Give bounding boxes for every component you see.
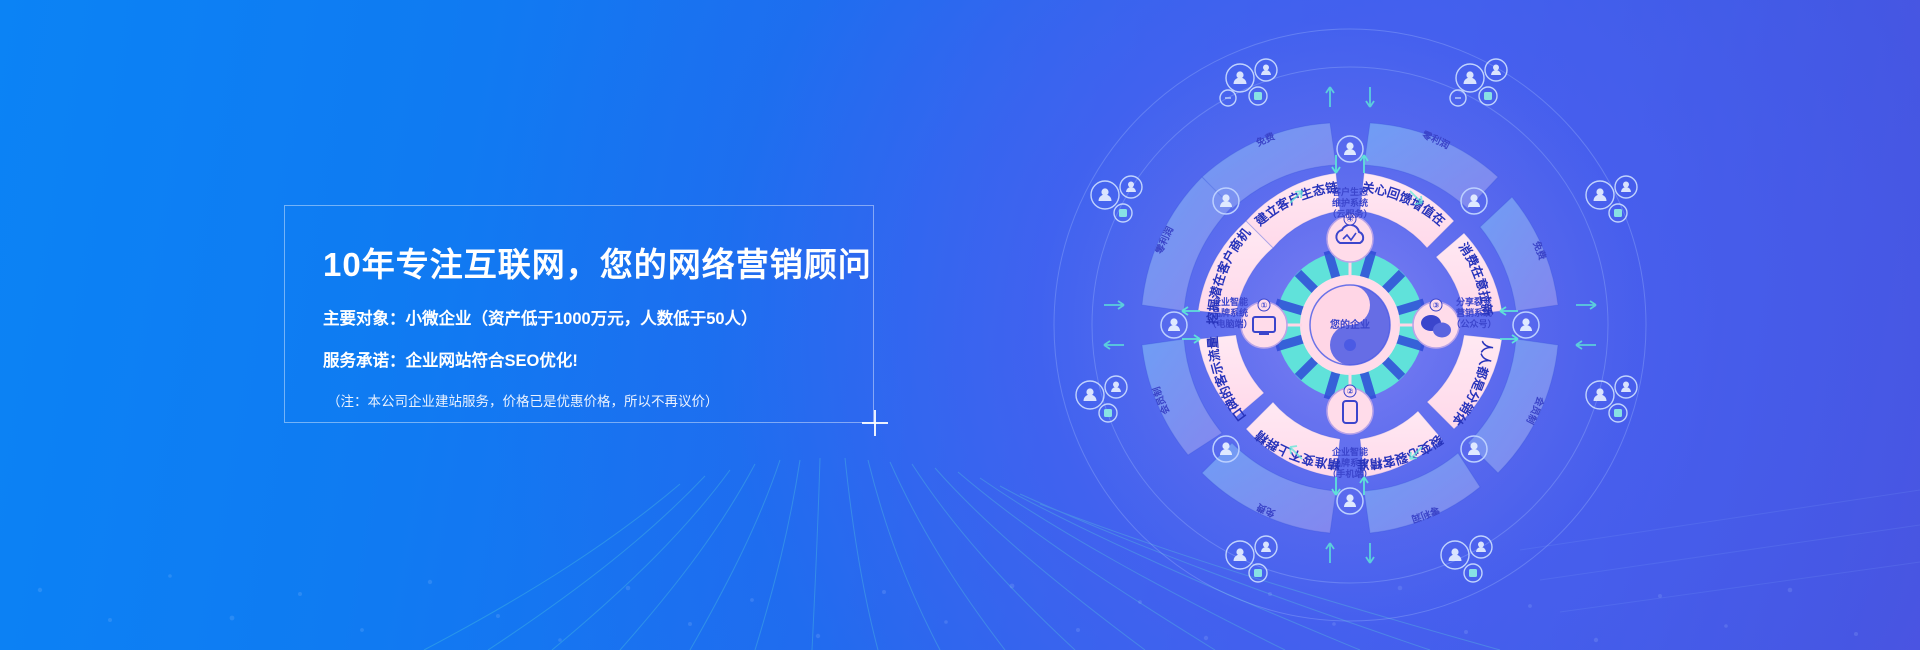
node-1-number: ① <box>1261 301 1268 310</box>
crosshair-marker-icon <box>862 410 888 436</box>
page-title: 10年专注互联网，您的网络营销顾问 <box>323 246 873 284</box>
target-audience-line: 主要对象：小微企业（资产低于1000万元，人数低于50人） <box>323 310 873 330</box>
promo-card-inner: 10年专注互联网，您的网络营销顾问 主要对象：小微企业（资产低于1000万元，人… <box>285 206 873 410</box>
hero-banner: 10年专注互联网，您的网络营销顾问 主要对象：小微企业（资产低于1000万元，人… <box>0 0 1920 650</box>
ecosystem-wheel-svg: 您的企业 ① ② <box>1040 15 1660 635</box>
wheel-center-label: 您的企业 <box>1330 318 1370 331</box>
node-2-number: ② <box>1347 387 1354 396</box>
ecosystem-wheel-infographic: 您的企业 ① ② <box>1040 15 1660 635</box>
service-promise-line: 服务承诺：企业网站符合SEO优化! <box>323 352 873 372</box>
pricing-note-line: （注：本公司企业建站服务，价格已是优惠价格，所以不再议价） <box>323 394 873 410</box>
promo-text-card: 10年专注互联网，您的网络营销顾问 主要对象：小微企业（资产低于1000万元，人… <box>284 205 874 423</box>
node-3-number: ③ <box>1433 301 1440 310</box>
